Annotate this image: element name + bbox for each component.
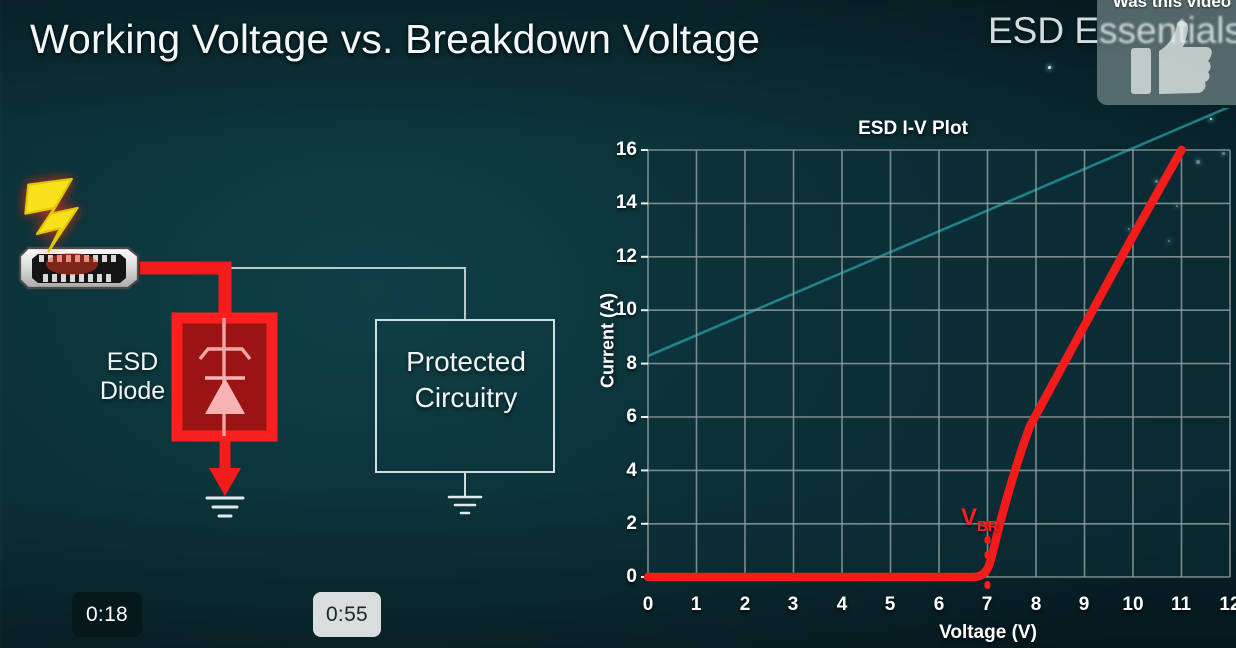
hdmi-connector-icon <box>20 248 138 288</box>
circuit-diagram: ESD Diode Protected Circuitry <box>0 168 600 568</box>
current-time-badge[interactable]: 0:18 <box>72 592 142 637</box>
signal-wire <box>140 268 465 320</box>
protected-label-line2: Circuitry <box>378 380 554 416</box>
thumbs-up-icon[interactable] <box>1131 20 1213 98</box>
protected-circuitry-label: Protected Circuitry <box>378 344 554 416</box>
esd-iv-chart: ESD I-V Plot Current (A) Voltage (V) 16 … <box>565 108 1236 648</box>
protected-label-line1: Protected <box>378 344 554 380</box>
total-time-badge[interactable]: 0:55 <box>313 592 381 637</box>
breakdown-voltage-label: VBR <box>961 504 999 535</box>
vbr-main: V <box>961 504 977 531</box>
esd-diode-label: ESD Diode <box>85 348 180 406</box>
chart-plot-area <box>565 108 1236 648</box>
video-frame: Working Voltage vs. Breakdown Voltage ES… <box>0 0 1236 648</box>
chart-axis-ticks <box>641 150 648 577</box>
feedback-prompt-text: Was this video <box>1113 0 1231 12</box>
lightning-bolt-icon <box>25 179 77 252</box>
esd-diode-label-line2: Diode <box>85 377 180 406</box>
page-title: Working Voltage vs. Breakdown Voltage <box>30 16 760 63</box>
ground-symbol-icon <box>207 498 243 516</box>
vbr-subscript: BR <box>977 518 999 535</box>
video-feedback-overlay[interactable]: Was this video <box>1097 0 1236 105</box>
sparkle-dot <box>1048 66 1051 69</box>
esd-diode-label-line1: ESD <box>85 348 180 377</box>
esd-diode-symbol <box>177 318 272 436</box>
